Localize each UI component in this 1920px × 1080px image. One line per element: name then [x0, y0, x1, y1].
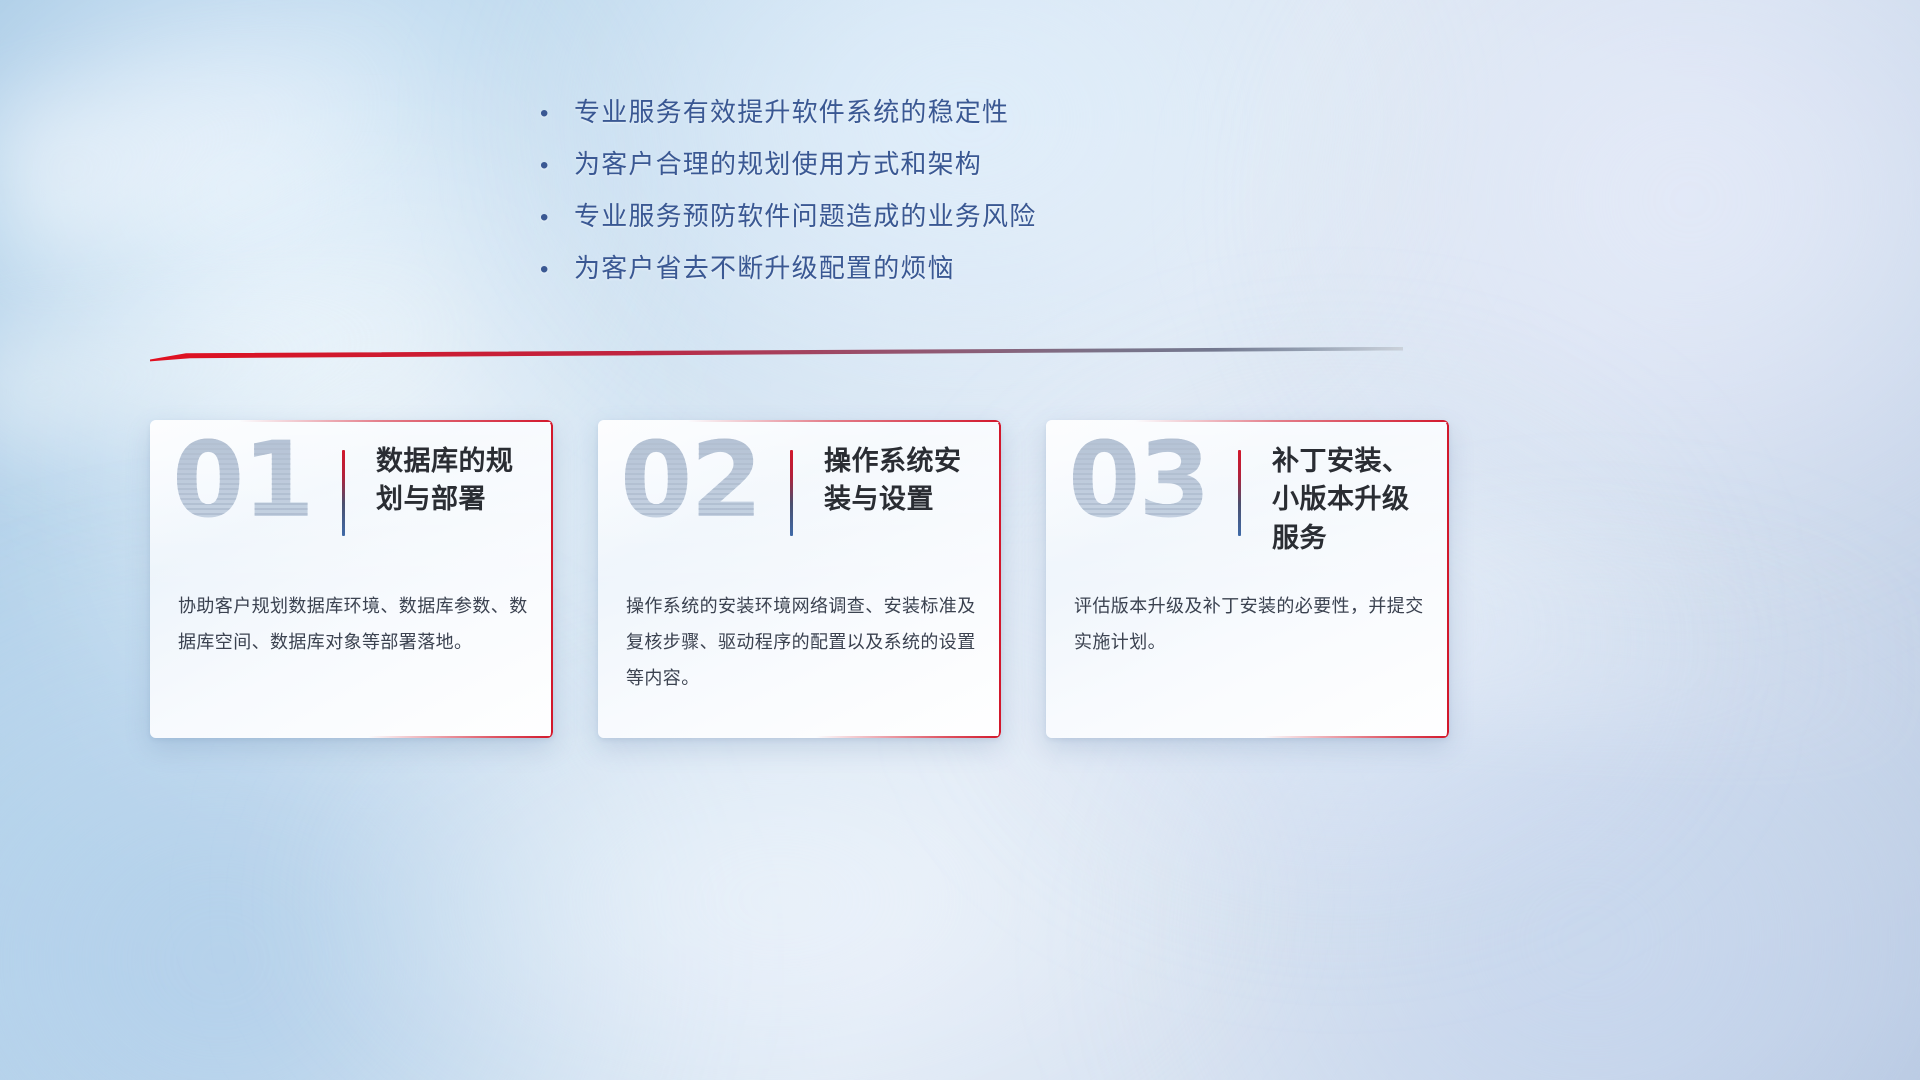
bullet-dot-icon: • — [540, 102, 574, 126]
service-card-list: 01 数据库的规划与部署 协助客户规划数据库环境、数据库参数、数据库空间、数据库… — [150, 420, 1450, 745]
card-title: 操作系统安装与设置 — [824, 442, 984, 519]
card-number-watermark: 02 — [620, 428, 761, 532]
bullet-dot-icon: • — [540, 154, 574, 178]
list-item: • 为客户合理的规划使用方式和架构 — [540, 144, 1380, 196]
list-item: • 专业服务预防软件问题造成的业务风险 — [540, 196, 1380, 248]
card-divider-bar — [790, 450, 793, 536]
list-item-label: 为客户省去不断升级配置的烦恼 — [574, 248, 955, 285]
card-body-text: 评估版本升级及补丁安装的必要性，并提交实施计划。 — [1074, 588, 1425, 660]
list-item-label: 专业服务有效提升软件系统的稳定性 — [574, 92, 1009, 129]
card-divider-bar — [342, 450, 345, 536]
bullet-dot-icon: • — [540, 206, 574, 230]
card-number-watermark: 01 — [172, 428, 313, 532]
bullet-dot-icon: • — [540, 258, 574, 282]
service-card[interactable]: 01 数据库的规划与部署 协助客户规划数据库环境、数据库参数、数据库空间、数据库… — [150, 420, 553, 738]
card-number-watermark: 03 — [1068, 428, 1209, 532]
list-item-label: 为客户合理的规划使用方式和架构 — [574, 144, 982, 181]
card-accent-bottom — [368, 736, 553, 738]
card-header: 03 补丁安装、小版本升级服务 — [1046, 420, 1449, 570]
card-divider-bar — [1238, 450, 1241, 536]
section-divider — [150, 347, 1403, 365]
list-item-label: 专业服务预防软件问题造成的业务风险 — [574, 196, 1036, 233]
service-card[interactable]: 02 操作系统安装与设置 操作系统的安装环境网络调查、安装标准及复核步骤、驱动程… — [598, 420, 1001, 738]
service-card[interactable]: 03 补丁安装、小版本升级服务 评估版本升级及补丁安装的必要性，并提交实施计划。 — [1046, 420, 1449, 738]
card-title: 数据库的规划与部署 — [376, 442, 536, 519]
card-body-text: 操作系统的安装环境网络调查、安装标准及复核步骤、驱动程序的配置以及系统的设置等内… — [626, 588, 977, 696]
card-accent-bottom — [1264, 736, 1449, 738]
card-body-text: 协助客户规划数据库环境、数据库参数、数据库空间、数据库对象等部署落地。 — [178, 588, 529, 660]
benefits-bullet-list: • 专业服务有效提升软件系统的稳定性 • 为客户合理的规划使用方式和架构 • 专… — [540, 92, 1380, 300]
card-accent-bottom — [816, 736, 1001, 738]
card-header: 01 数据库的规划与部署 — [150, 420, 553, 570]
card-header: 02 操作系统安装与设置 — [598, 420, 1001, 570]
card-title: 补丁安装、小版本升级服务 — [1272, 442, 1432, 557]
list-item: • 为客户省去不断升级配置的烦恼 — [540, 248, 1380, 300]
list-item: • 专业服务有效提升软件系统的稳定性 — [540, 92, 1380, 144]
divider-wedge-icon — [150, 347, 1403, 365]
